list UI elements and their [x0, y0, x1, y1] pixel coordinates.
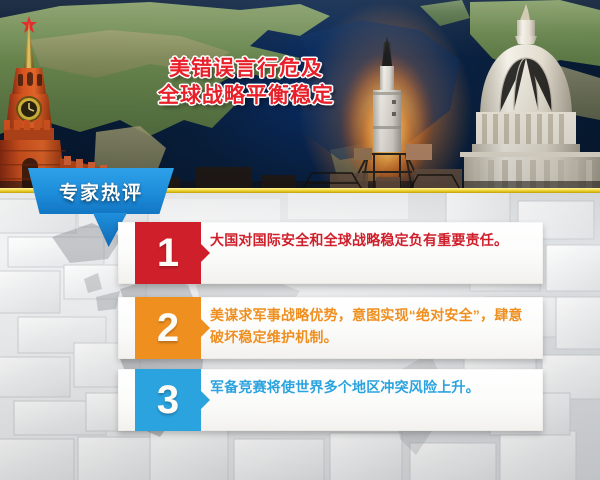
list-item[interactable]: 1 大国对国际安全和全球战略稳定负有重要责任。: [118, 222, 543, 284]
point-number: 2: [157, 308, 179, 348]
point-number: 3: [157, 380, 179, 420]
list-item[interactable]: 2 美谋求军事战略优势，意图实现“绝对安全”，肆意破坏稳定维护机制。: [118, 297, 543, 359]
point-text: 大国对国际安全和全球战略稳定负有重要责任。: [210, 229, 535, 251]
point-number-badge: 1: [135, 222, 201, 284]
point-text: 军备竞赛将使世界多个地区冲突风险上升。: [210, 376, 535, 398]
badge-arrow-icon: [201, 319, 210, 337]
points-list: 1 大国对国际安全和全球战略稳定负有重要责任。 2 美谋求军事战略优势，意图实现…: [0, 0, 600, 480]
point-number-badge: 2: [135, 297, 201, 359]
list-item[interactable]: 3 军备竞赛将使世界多个地区冲突风险上升。: [118, 369, 543, 431]
badge-arrow-icon: [201, 244, 210, 262]
point-number: 1: [157, 233, 179, 273]
badge-arrow-icon: [201, 391, 210, 409]
point-number-badge: 3: [135, 369, 201, 431]
point-text: 美谋求军事战略优势，意图实现“绝对安全”，肆意破坏稳定维护机制。: [210, 304, 535, 349]
infographic-poster: 美错误言行危及 全球战略平衡稳定 专家热评 1 大国对国际安全和全球战略稳定负有…: [0, 0, 600, 480]
